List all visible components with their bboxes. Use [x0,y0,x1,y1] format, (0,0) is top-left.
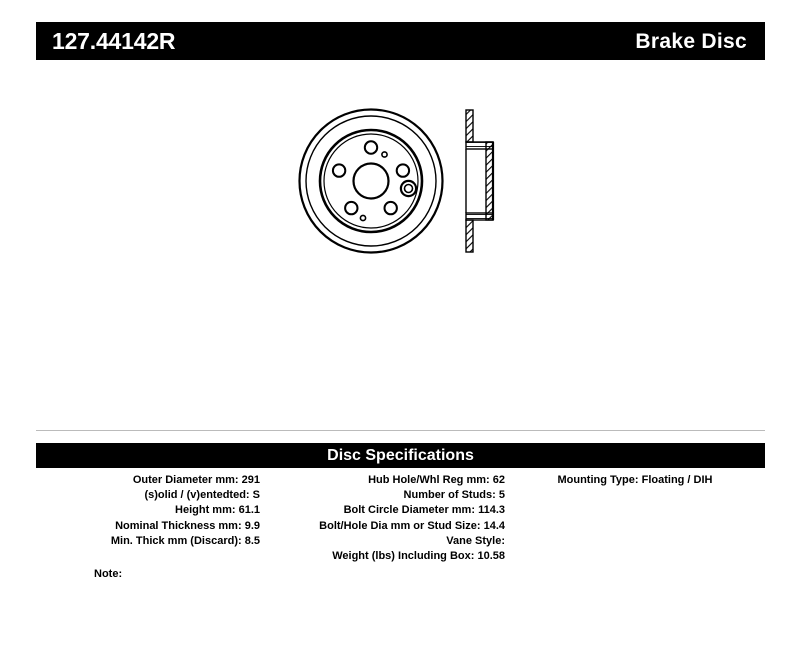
spec-value: 9.9 [245,520,260,532]
spec-row: Hub Hole/Whl Reg mm: 62 [260,473,505,488]
spec-value: 14.4 [484,520,505,532]
part-number: 127.44142R [52,30,175,53]
brake-disc-face-view [300,110,443,253]
lug-hole [365,141,377,153]
section-divider [36,430,765,431]
lug-hole [333,164,345,176]
spec-value: 5 [499,489,505,501]
spec-label: Hub Hole/Whl Reg mm: [368,474,490,486]
spec-label: Number of Studs: [404,489,496,501]
technical-drawing [36,70,765,410]
spec-label: Vane Style: [446,535,505,547]
brake-disc-edge-section-view [466,110,493,252]
brake-disc-drawing-svg [36,70,765,410]
specifications-table: Outer Diameter mm: 291 (s)olid / (v)ente… [36,473,765,564]
spec-row: Vane Style: [260,534,505,549]
spec-value: Floating / DIH [642,474,713,486]
spec-value: 291 [242,474,260,486]
spec-value: 114.3 [478,504,505,516]
spec-row: Nominal Thickness mm: 9.9 [36,519,260,534]
product-type-title: Brake Disc [635,31,747,52]
spec-label: Nominal Thickness mm: [115,520,242,532]
spec-value: 8.5 [245,535,260,547]
spec-section-title-bar: Disc Specifications [36,443,765,468]
spec-label: Min. Thick mm (Discard): [111,535,242,547]
spec-row: Height mm: 61.1 [36,503,260,518]
spec-row: Weight (lbs) Including Box: 10.58 [260,549,505,564]
pilot-hole [360,215,365,220]
spec-label: (s)olid / (v)entedted: [144,489,249,501]
spec-value: 10.58 [477,550,505,562]
spec-value: 62 [493,474,505,486]
lug-hole [345,202,357,214]
spec-label: Mounting Type: [557,474,638,486]
lug-hole [385,202,397,214]
spec-column-right: Mounting Type: Floating / DIH [505,473,765,488]
spec-label: Outer Diameter mm: [133,474,239,486]
note-label: Note: [94,568,122,580]
spec-row: Outer Diameter mm: 291 [36,473,260,488]
pilot-hole [382,152,387,157]
spec-row: Number of Studs: 5 [260,488,505,503]
spec-label: Weight (lbs) Including Box: [332,550,474,562]
spec-row: Mounting Type: Floating / DIH [505,473,765,488]
spec-column-left: Outer Diameter mm: 291 (s)olid / (v)ente… [36,473,260,549]
spec-row: (s)olid / (v)entedted: S [36,488,260,503]
spec-row: Bolt/Hole Dia mm or Stud Size: 14.4 [260,519,505,534]
spec-row: Bolt Circle Diameter mm: 114.3 [260,503,505,518]
spec-label: Bolt/Hole Dia mm or Stud Size: [319,520,480,532]
spec-label: Bolt Circle Diameter mm: [344,504,475,516]
note-block: Note: [36,568,765,580]
threaded-hole-inner [405,185,413,193]
rotor-ring-edge-upper [466,110,473,142]
spec-value: 61.1 [239,504,260,516]
spec-column-middle: Hub Hole/Whl Reg mm: 62 Number of Studs:… [260,473,505,564]
rotor-ring-edge-lower [466,220,473,252]
lug-hole [397,164,409,176]
spec-row: Min. Thick mm (Discard): 8.5 [36,534,260,549]
threaded-hole [401,181,416,196]
spec-section-title: Disc Specifications [327,448,474,464]
spec-label: Height mm: [175,504,236,516]
spec-value: S [253,489,260,501]
header-bar: 127.44142R Brake Disc [36,22,765,60]
